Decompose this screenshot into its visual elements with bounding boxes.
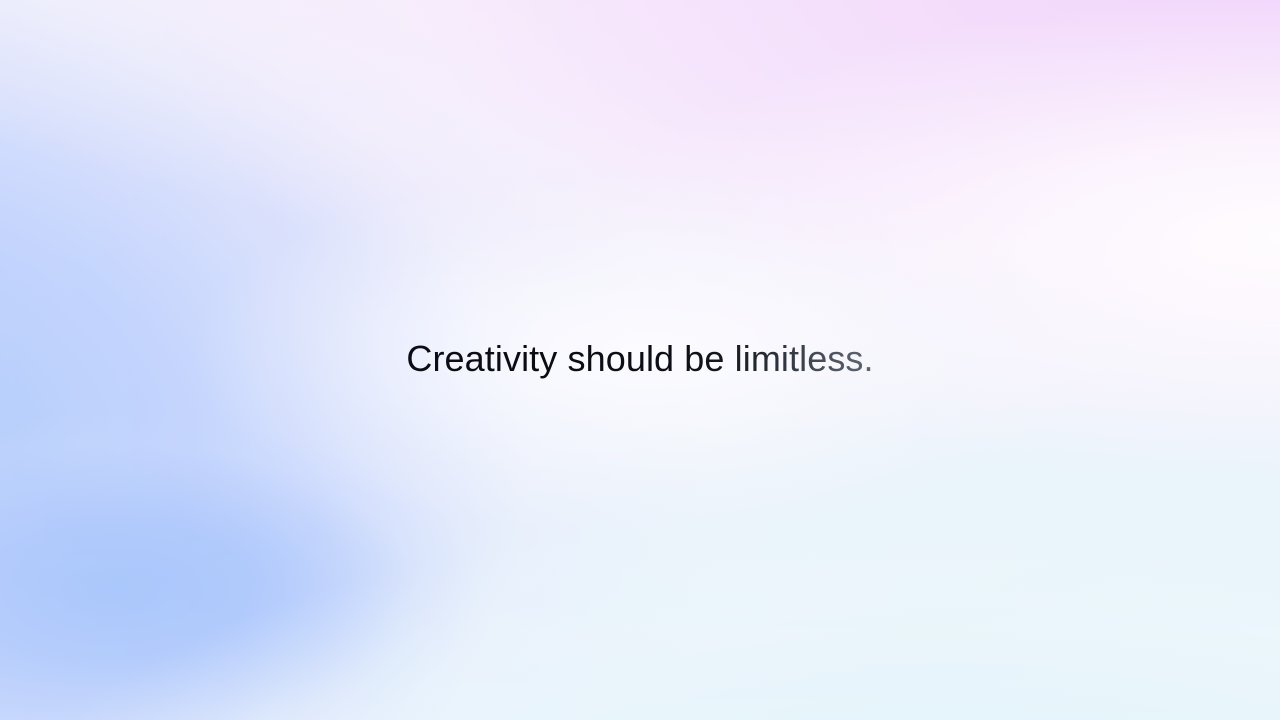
- canvas-stage: Creativity should be limitless.: [0, 0, 1280, 720]
- headline-container: Creativity should be limitless.: [0, 0, 1280, 720]
- page-title: Creativity should be limitless.: [406, 336, 873, 381]
